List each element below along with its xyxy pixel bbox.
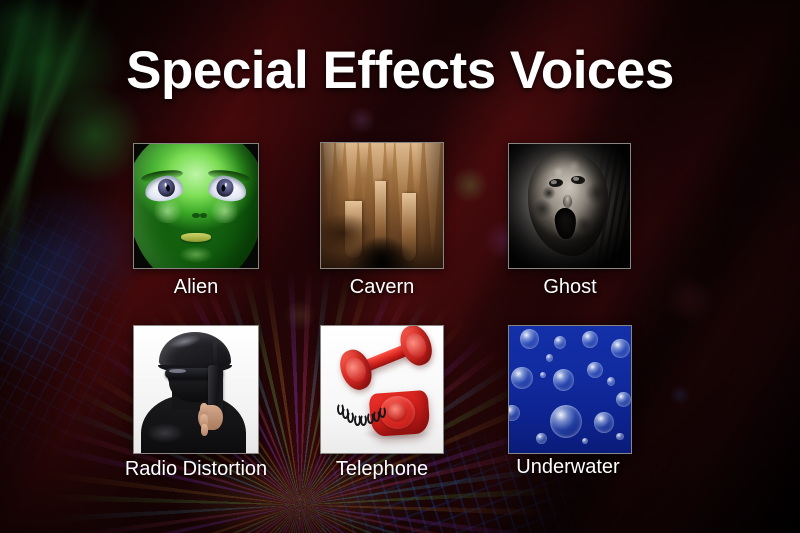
bubble	[607, 377, 616, 386]
swat-shoulder-highlight	[146, 423, 183, 443]
bubble	[611, 339, 629, 358]
swat-sunglasses-glint	[169, 369, 186, 373]
alien-eye-glint-left	[164, 183, 167, 187]
bubble	[587, 362, 603, 379]
bubble	[553, 369, 574, 391]
voice-label-cavern: Cavern	[282, 275, 482, 299]
voice-thumbnail-telephone[interactable]	[320, 325, 444, 454]
bubble	[540, 372, 546, 378]
bubble	[550, 405, 582, 438]
bubble	[546, 354, 553, 362]
alien-iris-left	[157, 179, 176, 199]
voice-thumbnail-alien[interactable]	[133, 143, 259, 269]
voice-label-radio-distortion: Radio Distortion	[96, 457, 296, 481]
voice-thumbnail-cavern[interactable]	[320, 142, 444, 269]
voice-label-ghost: Ghost	[470, 275, 670, 299]
radio-distortion-artwork	[134, 326, 258, 453]
alien-lips	[181, 233, 211, 242]
bubble	[536, 433, 547, 444]
cavern-artwork	[321, 143, 443, 268]
alien-iris-right	[216, 179, 235, 199]
voice-thumbnail-underwater[interactable]	[508, 325, 632, 454]
handset-earpiece-face	[403, 331, 429, 361]
page-title: Special Effects Voices	[0, 44, 800, 97]
voice-label-telephone: Telephone	[282, 457, 482, 481]
voice-thumbnail-radio-distortion[interactable]	[133, 325, 259, 454]
voice-label-underwater: Underwater	[468, 455, 668, 479]
alien-artwork	[134, 144, 258, 268]
cavern-shadow-overlay	[321, 143, 443, 268]
voice-label-alien: Alien	[96, 275, 296, 299]
content-layer: Special Effects Voices	[0, 0, 800, 533]
alien-cheek-highlight-left	[151, 199, 183, 224]
ghost-vignette	[509, 144, 630, 268]
telephone-artwork	[321, 326, 443, 453]
cord-coil	[379, 406, 386, 418]
telephone-cord	[336, 397, 390, 430]
ghost-artwork	[509, 144, 630, 268]
bubble	[616, 433, 623, 441]
alien-eye-glint-right	[225, 183, 228, 187]
special-effects-voices-screen: Special Effects Voices	[0, 0, 800, 533]
alien-chin-highlight	[179, 246, 214, 263]
underwater-artwork	[509, 326, 631, 453]
bubble	[594, 412, 614, 432]
handset-mouthpiece-face	[342, 355, 368, 385]
voice-thumbnail-ghost[interactable]	[508, 143, 631, 269]
alien-cheek-highlight-right	[208, 199, 240, 224]
bubble	[582, 331, 598, 348]
